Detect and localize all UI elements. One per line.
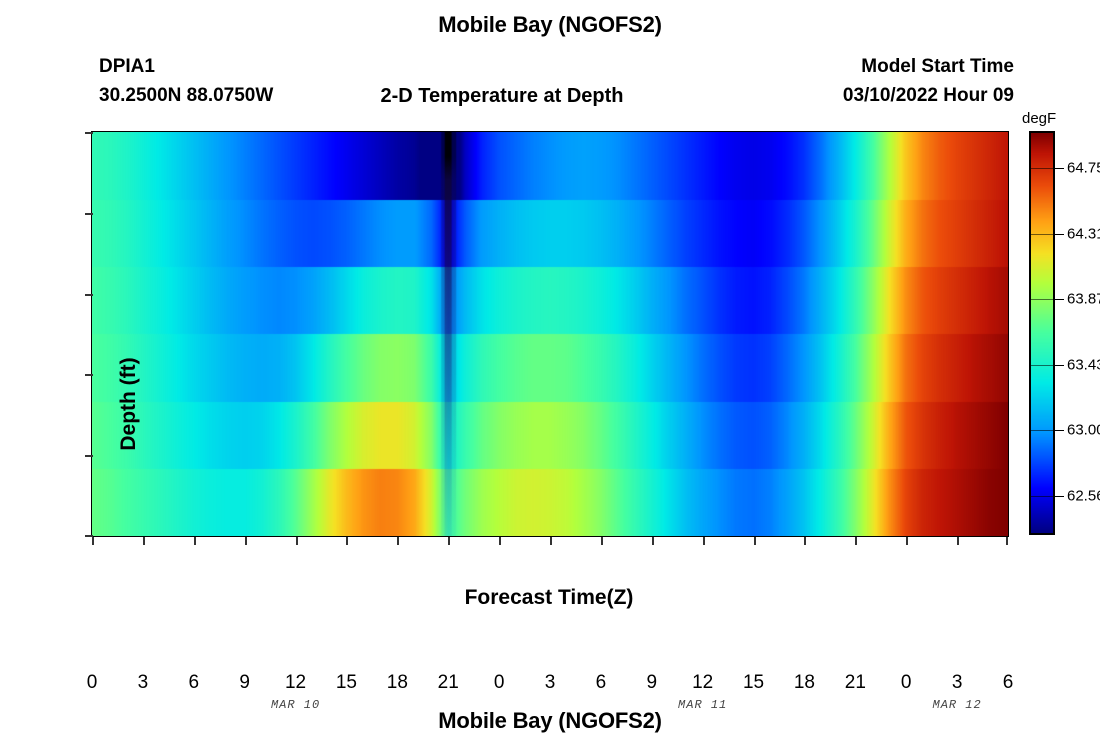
x-tick-label: 21 [835, 672, 875, 694]
colorbar-tick-label: 64.312 [1067, 225, 1100, 242]
colorbar-tick-label: 63.000 [1067, 422, 1100, 439]
x-tick-label: 3 [937, 672, 977, 694]
page-title-top: Mobile Bay (NGOFS2) [0, 12, 1100, 38]
colorbar-gridline [1031, 299, 1053, 300]
colorbar-tick-label: 63.875 [1067, 291, 1100, 308]
model-start-time-value: 03/10/2022 Hour 09 [843, 85, 1014, 107]
colorbar-tick-label: 64.750 [1067, 160, 1100, 177]
x-tick-label: 9 [225, 672, 265, 694]
colorbar-gridline [1031, 496, 1053, 497]
x-tick-mark [703, 537, 705, 545]
x-tick-label: 15 [326, 672, 366, 694]
x-tick-mark [143, 537, 145, 545]
station-id: DPIA1 [99, 56, 155, 78]
x-tick-label: 6 [581, 672, 621, 694]
y-tick-mark [85, 213, 93, 215]
x-axis-title: Forecast Time(Z) [91, 586, 1007, 610]
x-tick-label: 0 [72, 672, 112, 694]
colorbar: 62.56263.00063.43863.87564.31264.750 [1029, 131, 1055, 535]
x-tick-label: 21 [428, 672, 468, 694]
x-tick-mark [397, 537, 399, 545]
temperature-heatmap [92, 132, 1008, 536]
x-tick-label: 9 [632, 672, 672, 694]
colorbar-tick-mark [1055, 430, 1064, 431]
x-tick-label: 6 [174, 672, 214, 694]
x-tick-mark [194, 537, 196, 545]
y-axis-title: Depth (ft) [117, 304, 141, 504]
colorbar-gradient [1029, 131, 1055, 535]
x-tick-mark [296, 537, 298, 545]
x-tick-mark [499, 537, 501, 545]
y-tick-mark [85, 455, 93, 457]
x-tick-label: 18 [784, 672, 824, 694]
colorbar-gridline [1031, 365, 1053, 366]
x-tick-label: 3 [123, 672, 163, 694]
x-tick-label: 12 [683, 672, 723, 694]
colorbar-tick-mark [1055, 234, 1064, 235]
colorbar-tick-mark [1055, 365, 1064, 366]
x-tick-mark [754, 537, 756, 545]
page-title-bottom: Mobile Bay (NGOFS2) [0, 708, 1100, 734]
heatmap-plot-area: Depth (ft) 05 03691215182103691215182103… [91, 131, 1009, 537]
model-start-time-label: Model Start Time [861, 56, 1014, 78]
colorbar-tick-mark [1055, 299, 1064, 300]
x-tick-label: 0 [886, 672, 926, 694]
x-tick-mark [1006, 537, 1008, 545]
y-tick-mark [85, 132, 93, 134]
x-tick-mark [448, 537, 450, 545]
y-tick-mark [85, 294, 93, 296]
colorbar-gridline [1031, 168, 1053, 169]
colorbar-gridline [1031, 430, 1053, 431]
y-tick-mark [85, 374, 93, 376]
x-tick-label: 12 [276, 672, 316, 694]
colorbar-units-label: degF [1022, 110, 1056, 127]
colorbar-gridline [1031, 234, 1053, 235]
x-tick-label: 0 [479, 672, 519, 694]
x-tick-label: 6 [988, 672, 1028, 694]
x-tick-mark [346, 537, 348, 545]
x-tick-label: 15 [734, 672, 774, 694]
x-tick-label: 3 [530, 672, 570, 694]
x-tick-label: 18 [377, 672, 417, 694]
colorbar-tick-mark [1055, 168, 1064, 169]
x-tick-mark [652, 537, 654, 545]
x-tick-mark [804, 537, 806, 545]
x-tick-mark [957, 537, 959, 545]
x-tick-mark [855, 537, 857, 545]
x-tick-mark [92, 537, 94, 545]
x-tick-mark [550, 537, 552, 545]
colorbar-tick-mark [1055, 496, 1064, 497]
colorbar-tick-label: 62.562 [1067, 487, 1100, 504]
x-tick-mark [245, 537, 247, 545]
colorbar-tick-label: 63.438 [1067, 356, 1100, 373]
x-tick-mark [906, 537, 908, 545]
x-tick-mark [601, 537, 603, 545]
